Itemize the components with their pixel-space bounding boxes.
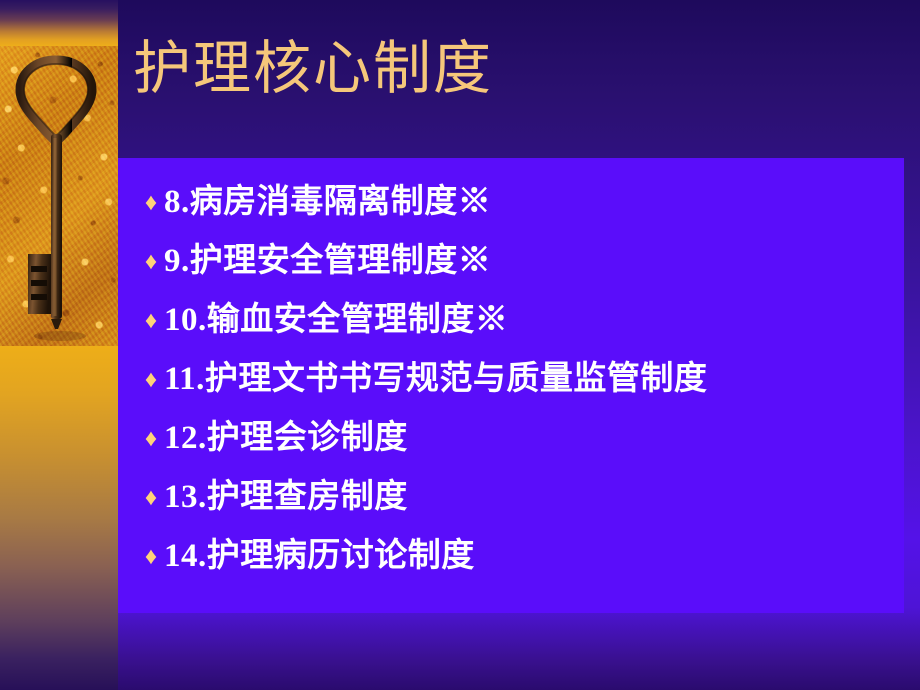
list-item[interactable]: ♦ 9.护理安全管理制度※: [138, 233, 920, 292]
list-item[interactable]: ♦ 12.护理会诊制度: [138, 410, 920, 469]
list-item-label: 14.护理病历讨论制度: [164, 528, 475, 576]
diamond-bullet-icon: ♦: [138, 427, 164, 451]
diamond-bullet-icon: ♦: [138, 191, 164, 215]
diamond-bullet-icon: ♦: [138, 309, 164, 333]
sidebar-bottom-gradient-band: [0, 346, 118, 690]
page-title: 护理核心制度: [133, 32, 493, 105]
list-item-label: 8.病房消毒隔离制度※: [164, 174, 491, 222]
list-item[interactable]: ♦ 14.护理病历讨论制度: [138, 528, 920, 587]
list-item-label: 10.输血安全管理制度※: [164, 292, 508, 340]
list-item-label: 12.护理会诊制度: [164, 410, 408, 458]
list-item[interactable]: ♦ 13.护理查房制度: [138, 469, 920, 528]
list-item[interactable]: ♦ 10.输血安全管理制度※: [138, 292, 920, 351]
bullet-list: ♦ 8.病房消毒隔离制度※ ♦ 9.护理安全管理制度※ ♦ 10.输血安全管理制…: [118, 158, 920, 587]
presentation-slide: 护理核心制度 ♦ 8.病房消毒隔离制度※ ♦ 9.护理安全管理制度※ ♦ 10.…: [0, 0, 920, 690]
diamond-bullet-icon: ♦: [138, 486, 164, 510]
list-item-label: 9.护理安全管理制度※: [164, 233, 491, 281]
sidebar-decoration: [0, 0, 118, 690]
list-item-label: 13.护理查房制度: [164, 469, 408, 517]
diamond-bullet-icon: ♦: [138, 545, 164, 569]
list-item[interactable]: ♦ 8.病房消毒隔离制度※: [138, 174, 920, 233]
list-item-label: 11.护理文书书写规范与质量监管制度: [164, 351, 707, 399]
sidebar-top-gradient-band: [0, 0, 118, 46]
list-item[interactable]: ♦ 11.护理文书书写规范与质量监管制度: [138, 351, 920, 410]
skeleton-key-icon: [0, 46, 118, 346]
diamond-bullet-icon: ♦: [138, 250, 164, 274]
key-photo: [0, 46, 118, 346]
diamond-bullet-icon: ♦: [138, 368, 164, 392]
content-placeholder: ♦ 8.病房消毒隔离制度※ ♦ 9.护理安全管理制度※ ♦ 10.输血安全管理制…: [118, 158, 904, 613]
